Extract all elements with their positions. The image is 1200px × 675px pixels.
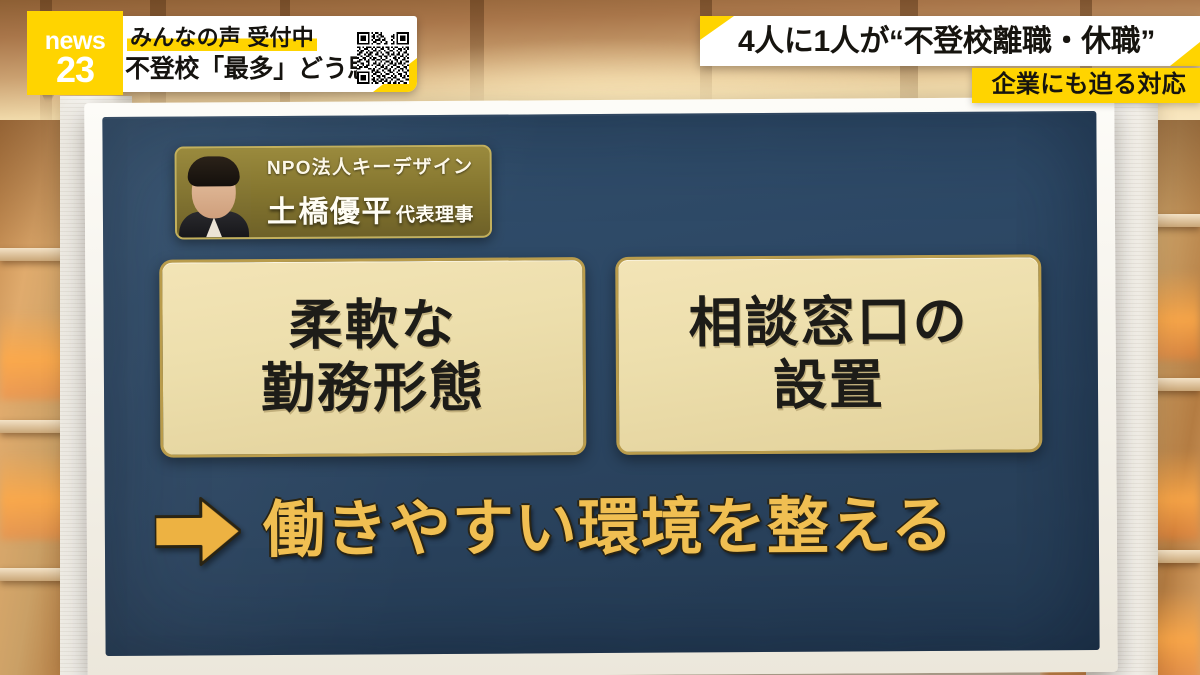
measure-card: 相談窓口の 設置 [615,254,1042,455]
speaker-nameplate: NPO法人キーデザイン 土橋優平 代表理事 [175,145,493,240]
headline-corner-accent-top [700,16,734,40]
measure-card-line1: 柔軟な [288,294,456,358]
headline-corner-accent-bottom [1170,42,1200,66]
promo-line-2: 不登校「最多」どう思う [125,57,397,82]
conclusion-text: 働きやすい環境を整える [263,496,955,562]
right-arrow-icon [155,496,241,567]
display-board: NPO法人キーデザイン 土橋優平 代表理事 柔軟な 勤務形態 相談窓口の 設置 [102,111,1099,656]
measure-card-line1: 相談窓口の [688,291,968,355]
measure-card: 柔軟な 勤務形態 [159,257,586,458]
promo-banner: みんなの声 受付中 不登校「最多」どう思う [115,16,417,92]
speaker-organization: NPO法人キーデザイン [267,152,474,180]
news23-logo: news 23 [27,11,123,95]
conclusion-row: 働きやすい環境を整える [155,491,1059,567]
speaker-title: 代表理事 [396,200,474,227]
speaker-portrait-icon [177,148,252,237]
measure-card-line2: 勤務形態 [261,357,485,421]
promo-line-1: みんなの声 受付中 [127,25,317,51]
nameplate-divider [267,183,474,184]
qr-code-icon[interactable] [357,32,409,84]
headline-text: 4人に1人が“不登校離職・休職” [738,22,1155,61]
measure-cards: 柔軟な 勤務形態 相談窓口の 設置 [159,254,1042,457]
logo-line-23: 23 [27,52,123,88]
display-board-frame: NPO法人キーデザイン 土橋優平 代表理事 柔軟な 勤務形態 相談窓口の 設置 [84,97,1117,675]
subheadline-banner: 企業にも迫る対応 [972,68,1200,103]
speaker-name: 土橋優平 [267,186,393,231]
subheadline-text: 企業にも迫る対応 [992,72,1186,98]
broadcast-screen: NPO法人キーデザイン 土橋優平 代表理事 柔軟な 勤務形態 相談窓口の 設置 [0,0,1200,675]
nameplate-text: NPO法人キーデザイン 土橋優平 代表理事 [251,147,491,237]
headline-banner: 4人に1人が“不登校離職・休職” [700,16,1200,66]
measure-card-line2: 設置 [773,354,885,417]
